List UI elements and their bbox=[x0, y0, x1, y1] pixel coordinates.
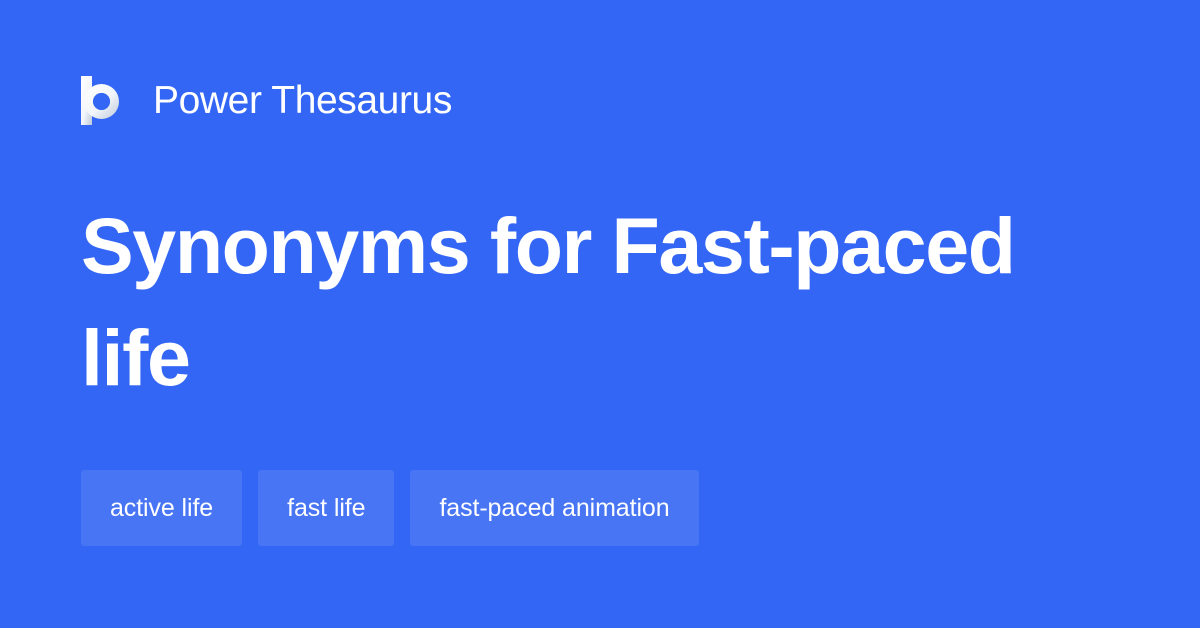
page-title: Synonyms for Fast-paced life bbox=[81, 190, 1091, 414]
brand-logo[interactable]: Power Thesaurus bbox=[81, 72, 452, 128]
brand-name: Power Thesaurus bbox=[153, 81, 452, 120]
synonym-chip[interactable]: fast life bbox=[258, 470, 394, 546]
power-thesaurus-b-logo-icon bbox=[81, 76, 125, 125]
synonym-chip[interactable]: fast-paced animation bbox=[410, 470, 698, 546]
synonym-chip[interactable]: active life bbox=[81, 470, 242, 546]
synonym-chip-list: active life fast life fast-paced animati… bbox=[81, 470, 699, 546]
share-card: Power Thesaurus Synonyms for Fast-paced … bbox=[0, 0, 1200, 628]
